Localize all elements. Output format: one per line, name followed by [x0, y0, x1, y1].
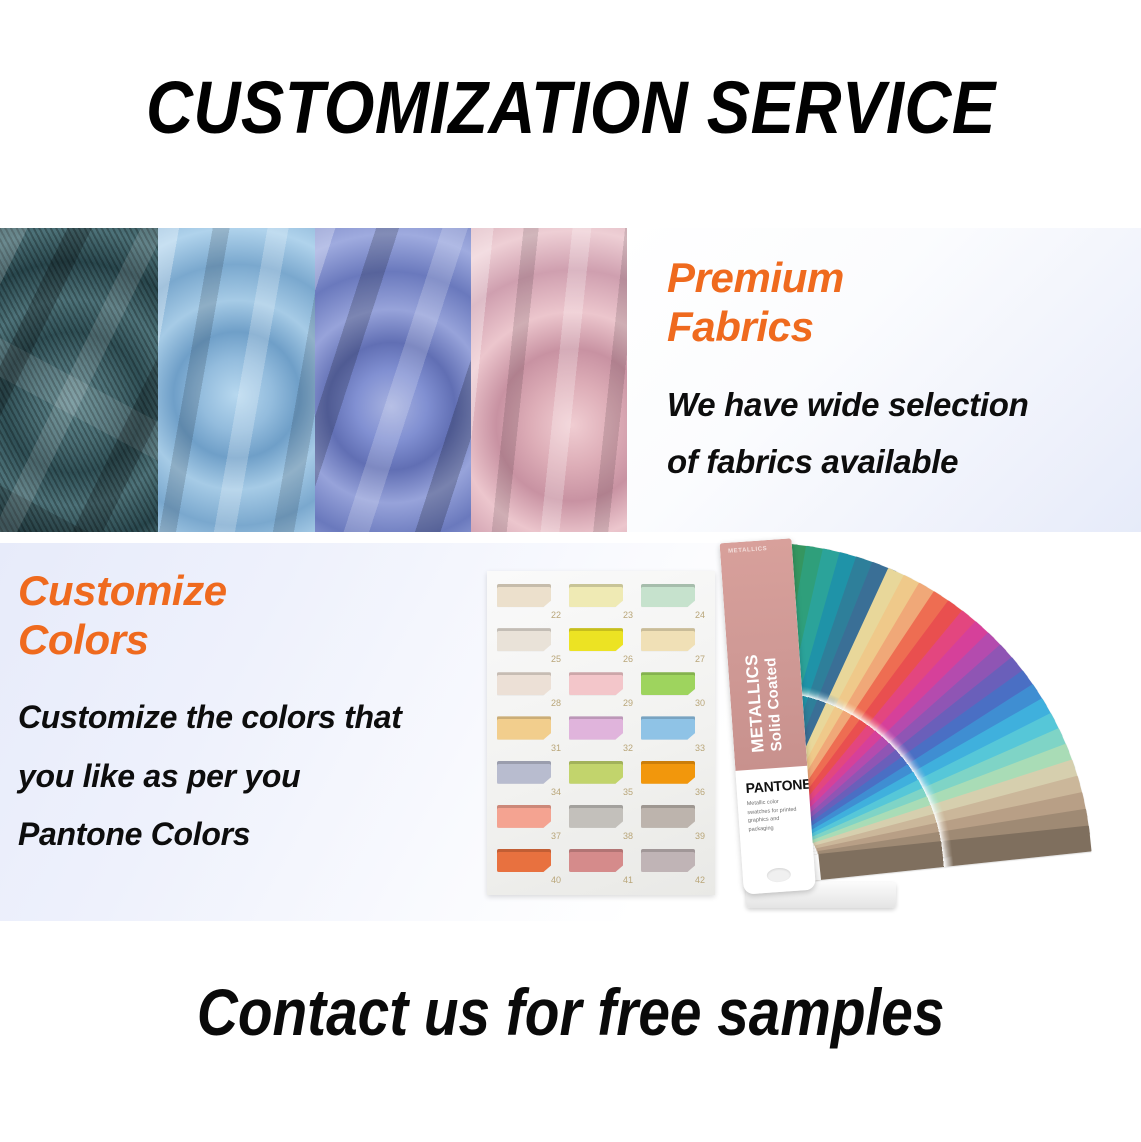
color-chip-sample [569, 628, 623, 651]
color-chip-number: 34 [551, 787, 561, 797]
color-chip-number: 23 [623, 610, 633, 620]
color-chip-sample [641, 584, 695, 607]
color-chip: 38 [569, 803, 633, 840]
premium-fabrics-heading-line-2: Fabrics [667, 303, 1141, 352]
premium-fabrics-body: We have wide selection of fabrics availa… [667, 377, 1141, 491]
color-chip-sample [497, 849, 551, 872]
pantone-cover-top-label: METALLICS [728, 546, 768, 555]
color-chip-number: 22 [551, 610, 561, 620]
color-chip: 28 [497, 670, 561, 707]
color-chip: 31 [497, 714, 561, 751]
color-chip: 41 [569, 847, 633, 884]
color-chip-number: 37 [551, 831, 561, 841]
color-chip-number: 38 [623, 831, 633, 841]
color-chip-sample [641, 628, 695, 651]
color-chip: 39 [641, 803, 705, 840]
color-chip: 36 [641, 759, 705, 796]
pantone-fan-deck: METALLICS METALLICS Solid Coated PANTONE… [700, 530, 1141, 930]
color-chip-number: 29 [623, 698, 633, 708]
color-chip: 35 [569, 759, 633, 796]
page-header: CUSTOMIZATION SERVICE [0, 0, 1141, 215]
fabric-swatch-light-blue-jersey [158, 228, 315, 532]
premium-fabrics-body-line-2: of fabrics available [667, 434, 1141, 491]
color-chip-sample [497, 805, 551, 828]
customize-colors-body: Customize the colors that you like as pe… [18, 688, 488, 863]
pantone-cover-thumb-notch [766, 867, 791, 883]
color-chip-sample [641, 805, 695, 828]
color-chip: 26 [569, 626, 633, 663]
color-chip: 33 [641, 714, 705, 751]
customize-colors-heading-line-1: Customize [18, 567, 488, 616]
color-chip: 27 [641, 626, 705, 663]
color-chip-number: 35 [623, 787, 633, 797]
color-chip-sample [497, 761, 551, 784]
color-chip-sample [497, 716, 551, 739]
color-chip: 22 [497, 582, 561, 619]
color-chip: 34 [497, 759, 561, 796]
color-chip: 23 [569, 582, 633, 619]
color-chip-sample [569, 672, 623, 695]
premium-fabrics-heading-line-1: Premium [667, 254, 1141, 303]
fabric-fold-shading [471, 228, 627, 532]
color-chip-number: 32 [623, 743, 633, 753]
fabric-swatch-strip [0, 228, 627, 532]
customize-colors-heading-line-2: Colors [18, 616, 488, 665]
premium-fabrics-heading: Premium Fabrics [667, 254, 1141, 351]
page-title: CUSTOMIZATION SERVICE [146, 65, 996, 150]
fabric-swatch-deep-teal-ribbed-knit [0, 228, 158, 532]
footer-cta-text: Contact us for free samples [197, 974, 945, 1050]
color-chip-sample [569, 716, 623, 739]
customize-colors-body-line-1: Customize the colors that [18, 688, 488, 746]
color-chip-number: 31 [551, 743, 561, 753]
customize-colors-text-panel: Customize Colors Customize the colors th… [18, 567, 488, 863]
premium-fabrics-section: Premium Fabrics We have wide selection o… [0, 228, 1141, 532]
color-chip-number: 41 [623, 875, 633, 885]
pantone-brand-text: PANTONE [745, 776, 812, 797]
color-chip: 24 [641, 582, 705, 619]
color-chip-sample [497, 584, 551, 607]
color-chip-sample [569, 849, 623, 872]
pantone-brand-logo: PANTONE® [745, 775, 816, 796]
color-chip: 29 [569, 670, 633, 707]
fabric-fold-shading [315, 228, 471, 532]
color-chip-sample [641, 672, 695, 695]
color-chip-sample [641, 761, 695, 784]
color-chip: 37 [497, 803, 561, 840]
color-chip: 30 [641, 670, 705, 707]
color-chip-sample [497, 672, 551, 695]
color-chip: 40 [497, 847, 561, 884]
fabric-fold-shading [0, 228, 158, 532]
pantone-cover-title: METALLICS Solid Coated [737, 581, 786, 753]
color-chip-sample [497, 628, 551, 651]
color-swatch-card: 2223242526272829303132333435363738394041… [487, 571, 715, 895]
color-chip-sample [569, 761, 623, 784]
color-chip-number: 28 [551, 698, 561, 708]
customize-colors-body-line-3: Pantone Colors [18, 805, 488, 863]
fabric-fold-shading [158, 228, 315, 532]
color-chip-number: 40 [551, 875, 561, 885]
color-chip: 32 [569, 714, 633, 751]
customize-colors-body-line-2: you like as per you [18, 747, 488, 805]
fabric-swatch-dusty-pink-satin [471, 228, 627, 532]
color-chip: 42 [641, 847, 705, 884]
color-chip-sample [569, 584, 623, 607]
color-chip-sample [569, 805, 623, 828]
color-chip-sample [641, 849, 695, 872]
color-chip-number: 26 [623, 654, 633, 664]
color-chip-sample [641, 716, 695, 739]
page-footer: Contact us for free samples [0, 950, 1141, 1142]
fabric-swatch-periwinkle-blue-crepe [315, 228, 471, 532]
premium-fabrics-text-panel: Premium Fabrics We have wide selection o… [627, 228, 1141, 532]
color-chip-number: 25 [551, 654, 561, 664]
pantone-cover-subtitle: Metallic color swatches for printed grap… [747, 796, 805, 834]
color-chip: 25 [497, 626, 561, 663]
customize-colors-heading: Customize Colors [18, 567, 488, 664]
premium-fabrics-body-line-1: We have wide selection [667, 377, 1141, 434]
